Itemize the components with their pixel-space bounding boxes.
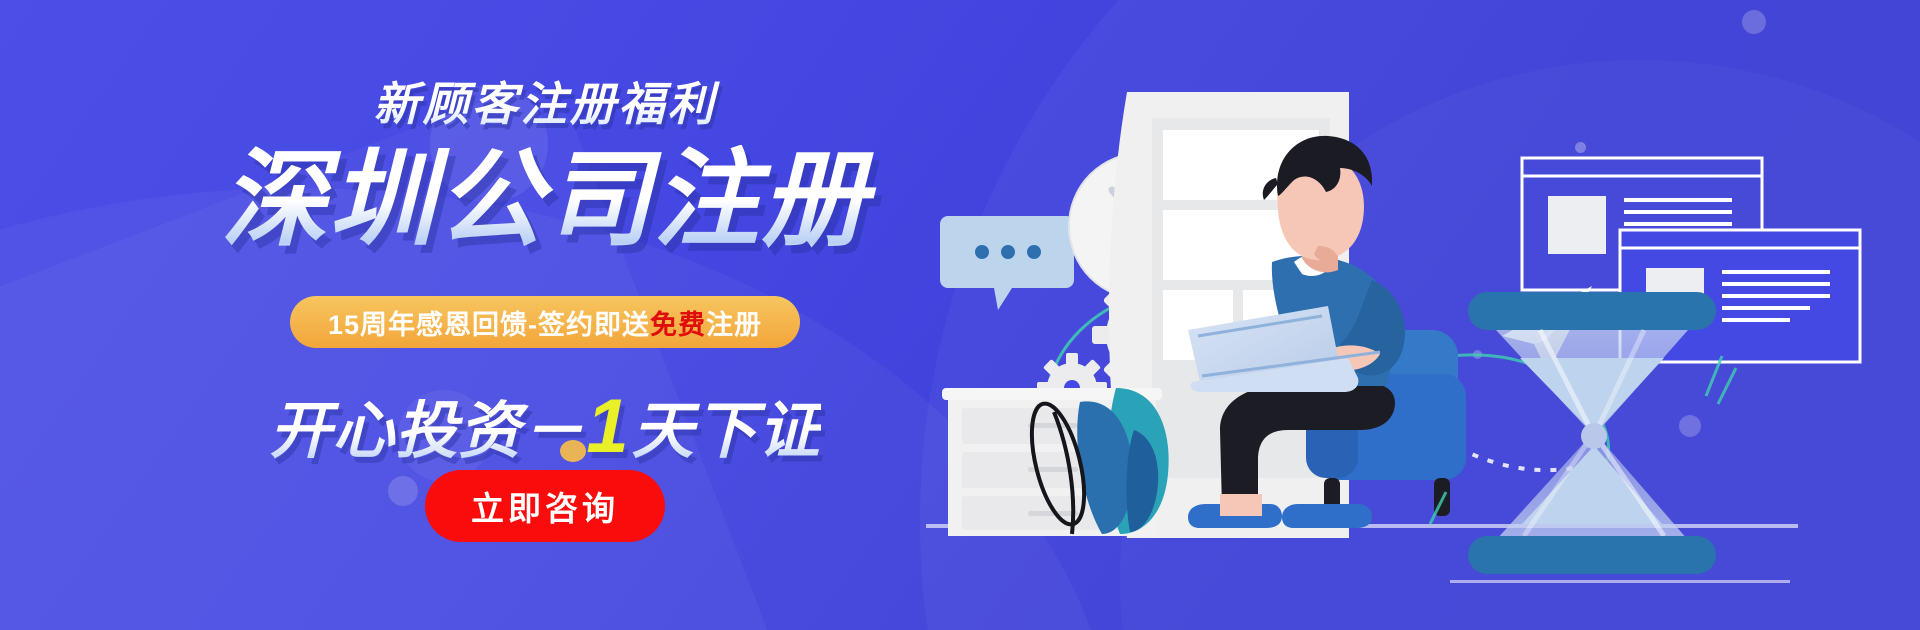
sub-headline-suffix: 天下证 (632, 397, 821, 466)
promo-pill-row: 15周年感恩回馈-签约即送 免费 注册 (0, 296, 1090, 348)
promo-banner: 新顾客注册福利 深圳公司注册 15周年感恩回馈-签约即送 免费 注册 开心投资－… (0, 0, 1920, 630)
promo-pill: 15周年感恩回馈-签约即送 免费 注册 (290, 296, 800, 348)
sub-headline: 开心投资－1天下证 (0, 380, 1090, 470)
promo-pill-prefix: 15周年感恩回馈-签约即送 (328, 303, 650, 342)
promo-pill-suffix: 注册 (706, 303, 762, 342)
cta-row: 立即咨询 (0, 470, 1090, 542)
banner-copy: 新顾客注册福利 深圳公司注册 15周年感恩回馈-签约即送 免费 注册 开心投资－… (0, 0, 1090, 630)
sub-headline-number: 1 (584, 384, 631, 469)
promo-pill-highlight: 免费 (650, 303, 706, 342)
sub-headline-prefix: 开心投资－ (269, 397, 584, 466)
eyebrow-tagline: 新顾客注册福利 (0, 68, 1090, 134)
page-title: 深圳公司注册 (0, 145, 1090, 256)
consult-now-button[interactable]: 立即咨询 (425, 470, 665, 542)
baseline-right (1450, 580, 1790, 583)
